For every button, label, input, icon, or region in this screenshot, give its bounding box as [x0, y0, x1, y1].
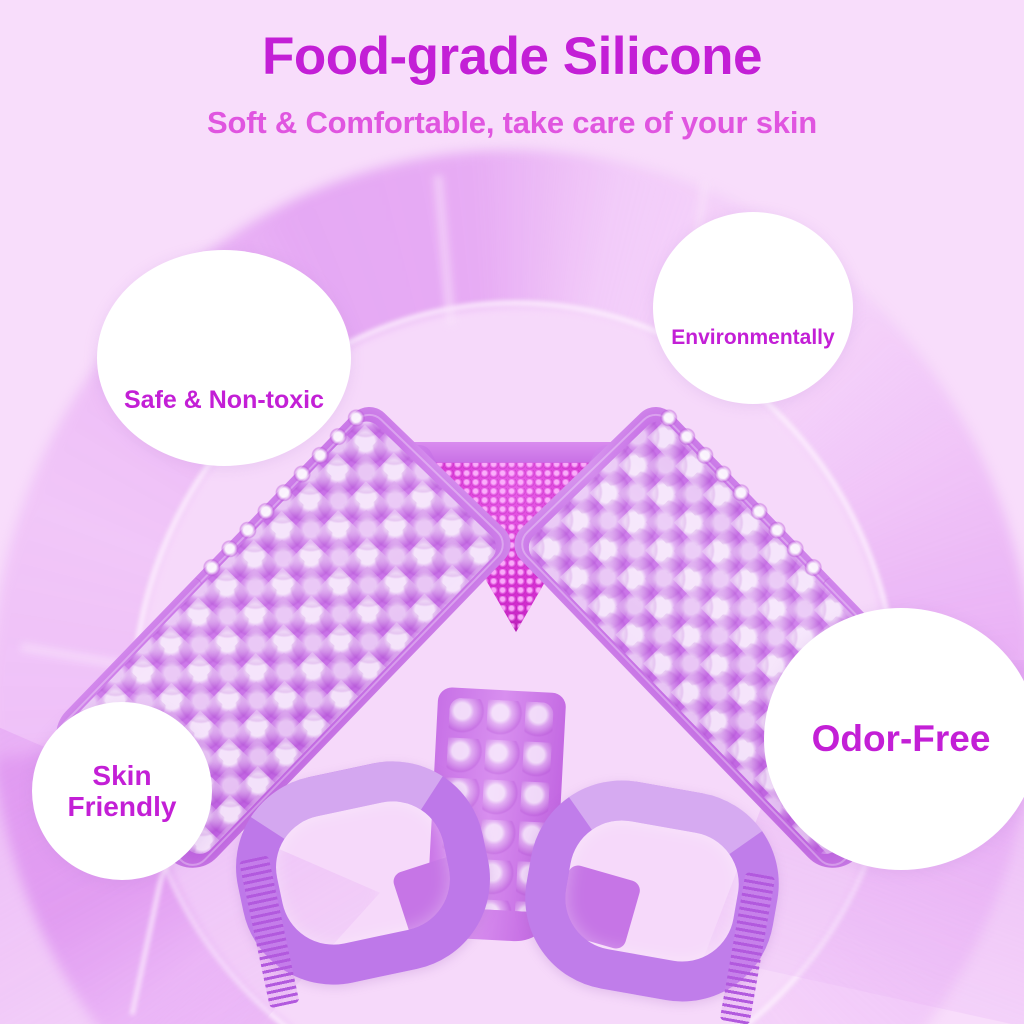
feature-label-odor-free: Odor-Free — [806, 718, 997, 759]
product-handle-grip-ribs — [720, 872, 776, 1024]
feature-bubble-odor-free: Odor-Free — [764, 608, 1024, 870]
feature-label-skin-friendly-line2: Friendly — [68, 791, 177, 822]
product-handle-grip-ribs — [239, 855, 300, 1008]
feature-label-environmentally: Environmentally — [665, 326, 840, 404]
feature-bubble-skin-friendly: SkinFriendly — [32, 702, 212, 880]
feature-bubble-environmentally: Environmentally — [653, 212, 853, 404]
feature-label-skin-friendly: SkinFriendly — [62, 760, 183, 823]
feature-label-safe-non-toxic: Safe & Non-toxic — [118, 386, 330, 466]
product-marketing-image: Food-grade Silicone Soft & Comfortable, … — [0, 0, 1024, 1024]
feature-label-skin-friendly-line1: Skin — [68, 760, 177, 791]
feature-bubble-safe-non-toxic: Safe & Non-toxic — [97, 250, 351, 466]
